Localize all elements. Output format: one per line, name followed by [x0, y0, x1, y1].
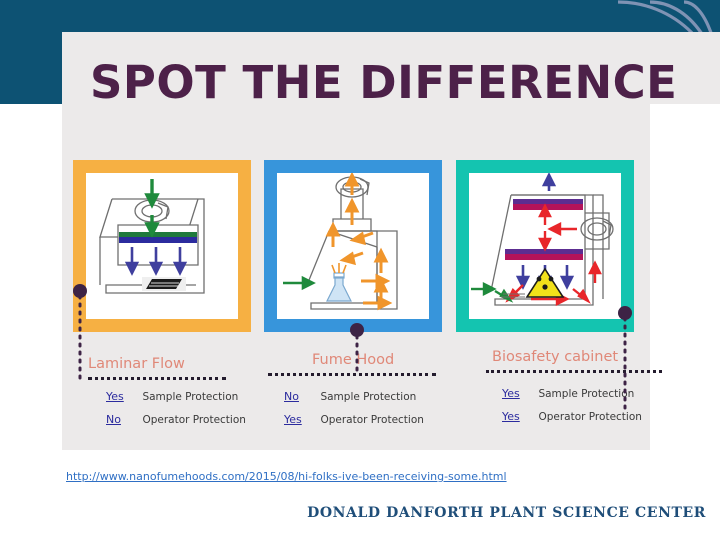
protection-row: Yes Operator Protection: [502, 407, 642, 425]
caption-rule-1: [88, 377, 226, 380]
criterion-label: Operator Protection: [142, 414, 245, 426]
criterion-label: Sample Protection: [320, 391, 416, 403]
organization-footer: DONALD DANFORTH PLANT SCIENCE CENTER: [307, 505, 706, 521]
flask-icon: [327, 263, 351, 301]
answer-value: No: [106, 413, 132, 426]
fume-hood-svg: [277, 173, 429, 319]
room-air-arrow: [283, 278, 313, 288]
caption-laminar-flow: Laminar Flow: [88, 356, 185, 372]
panel-laminar-flow[interactable]: [73, 160, 251, 332]
clean-air-arrows: [147, 179, 157, 234]
biosafety-cabinet-diagram: [469, 173, 621, 319]
protection-row: No Sample Protection: [284, 387, 416, 405]
slide-content: SPOT THE DIFFERENCE: [62, 32, 650, 450]
source-link[interactable]: http://www.nanofumehoods.com/2015/08/hi-…: [66, 470, 507, 483]
laminar-flow-diagram: [86, 173, 238, 319]
answer-value: Yes: [106, 390, 132, 403]
fume-hood-diagram: [277, 173, 429, 319]
page-title: SPOT THE DIFFERENCE: [90, 56, 677, 109]
protection-row: Yes Operator Protection: [284, 410, 424, 428]
answer-value: Yes: [502, 410, 528, 423]
answer-value: Yes: [502, 387, 528, 400]
answer-value: No: [284, 390, 310, 403]
panel-fume-hood[interactable]: [264, 160, 442, 332]
protection-row: Yes Sample Protection: [106, 387, 238, 405]
panel-biosafety-cabinet[interactable]: [456, 160, 634, 332]
room-air-arrow: [471, 284, 510, 300]
criterion-label: Sample Protection: [538, 388, 634, 400]
caption-rule-2: [268, 373, 436, 376]
biohazard-icon: [527, 269, 563, 297]
criterion-label: Operator Protection: [538, 411, 641, 423]
biosafety-cabinet-svg: [469, 173, 621, 319]
criterion-label: Sample Protection: [142, 391, 238, 403]
protection-row: No Operator Protection: [106, 410, 246, 428]
protection-row: Yes Sample Protection: [502, 384, 634, 402]
criterion-label: Operator Protection: [320, 414, 423, 426]
work-specimen: [142, 277, 186, 291]
caption-rule-3: [486, 370, 662, 373]
laminar-flow-svg: [86, 173, 238, 319]
hepa-filter-bar: [119, 237, 197, 243]
prefilter-bar: [119, 232, 197, 237]
caption-fume-hood: Fume Hood: [312, 352, 394, 368]
caption-biosafety-cabinet: Biosafety cabinet: [492, 349, 618, 365]
answer-value: Yes: [284, 413, 310, 426]
